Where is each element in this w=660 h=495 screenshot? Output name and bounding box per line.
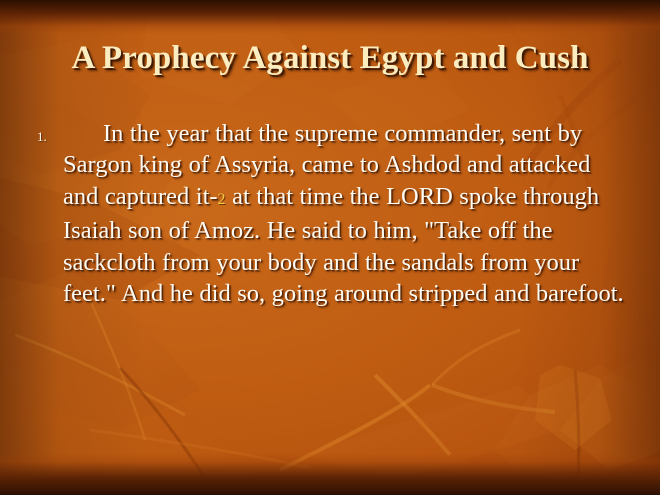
- slide-canvas: A Prophecy Against Egypt and Cush 1. In …: [0, 0, 660, 495]
- scripture-paragraph: In the year that the supreme commander, …: [63, 118, 632, 309]
- verse-number: 2: [218, 191, 226, 208]
- slide-title: A Prophecy Against Egypt and Cush: [71, 41, 588, 76]
- background-bottom-vignette: [0, 453, 660, 495]
- list-marker: 1.: [37, 129, 47, 145]
- slide-body: 1. In the year that the supreme commande…: [33, 118, 632, 309]
- slide-title-container: A Prophecy Against Egypt and Cush: [0, 41, 660, 76]
- background-top-vignette: [0, 0, 660, 34]
- list-item: 1. In the year that the supreme commande…: [33, 118, 632, 309]
